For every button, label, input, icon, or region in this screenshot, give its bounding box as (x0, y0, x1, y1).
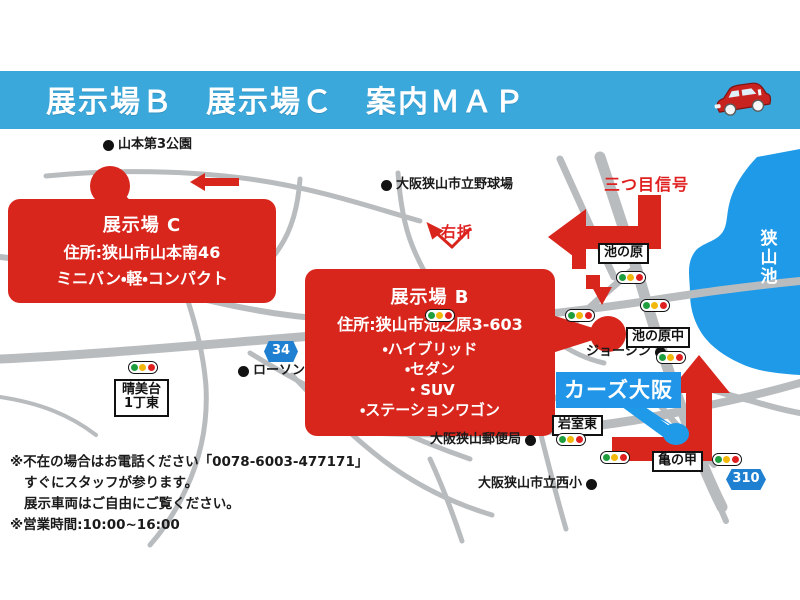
hall-c-callout-notch (86, 181, 138, 209)
hall-b-title: 展示場 B (315, 283, 545, 309)
signal-iwamuro (600, 451, 630, 464)
footnote-phone: ※不在の場合はお電話ください「0078-6003-477171」 (10, 452, 430, 473)
poi-lawson-label: ローソン (253, 364, 305, 379)
route-shield-310: 310 (726, 469, 766, 490)
annotation-third-signal: 三つ目信号 (604, 171, 689, 195)
signal-ikenohara (616, 271, 646, 284)
hall-b-vehicle-3: ・SUV (315, 380, 545, 400)
footnote-freeview: 展示車両はご自由にご覧ください。 (10, 494, 430, 515)
signal-uset (425, 309, 455, 322)
poi-dot-icon (238, 366, 249, 377)
shop-label: カーズ大阪 (556, 372, 681, 408)
red-car-icon (710, 80, 772, 120)
signal-harumidai (128, 361, 158, 374)
poi-dot-icon (103, 140, 114, 151)
plate-ikenohara-naka: 池の原中 (626, 327, 690, 348)
poi-baseball-stadium: 大阪狭山市立野球場 (381, 178, 513, 193)
plate-harumidai-line2: 1丁東 (122, 397, 161, 411)
poi-baseball-stadium-label: 大阪狭山市立野球場 (396, 178, 513, 193)
poi-post-office-label: 大阪狭山郵便局 (430, 433, 521, 448)
poi-nishi-elementary-label: 大阪狭山市立西小 (478, 477, 582, 492)
poi-lawson: ローソン (238, 364, 305, 379)
footnotes: ※不在の場合はお電話ください「0078-6003-477171」 すぐにスタッフ… (10, 452, 430, 536)
poi-yamamoto-park: 山本第3公園 (103, 138, 192, 153)
annotation-turn-right: 右折 (441, 221, 473, 242)
poi-yamamoto-park-label: 山本第3公園 (118, 138, 192, 153)
hall-b-vehicle-2: ・セダン (315, 359, 545, 379)
hall-c-title: 展示場 C (18, 211, 266, 237)
shop-location-dot (663, 423, 689, 445)
poi-dot-icon (586, 479, 597, 490)
plate-kamenoko: 亀の甲 (652, 451, 703, 472)
map-page: 展示場Ｂ 展示場Ｃ 案内ＭＡＰ (0, 0, 800, 600)
signal-joshin-east (656, 351, 686, 364)
plate-ikenohara: 池の原 (598, 243, 649, 264)
poi-nishi-elementary: 大阪狭山市立西小 (478, 477, 597, 492)
footnote-staff: すぐにスタッフが参ります。 (10, 473, 430, 494)
signal-mid-arterial (565, 309, 595, 322)
hall-b-vehicle-4: ・ステーションワゴン (315, 400, 545, 420)
signal-kamenoko (712, 453, 742, 466)
hall-b-vehicle-1: ・ハイブリッド (315, 339, 545, 359)
poi-post-office: 大阪狭山郵便局 (430, 433, 536, 448)
signal-post-office (556, 433, 586, 446)
plate-harumidai: 晴美台 1丁東 (114, 379, 169, 417)
hall-c-vehicles: ミニバン・軽・コンパクト (18, 265, 266, 289)
header-banner: 展示場Ｂ 展示場Ｃ 案内ＭＡＰ (0, 71, 800, 129)
hall-c-address: 住所:狭山市山本南46 (18, 239, 266, 263)
footnote-hours: ※営業時間:10:00~16:00 (10, 515, 430, 536)
route-shield-34: 34 (264, 341, 298, 362)
hall-c-callout: 展示場 C 住所:狭山市山本南46 ミニバン・軽・コンパクト (8, 199, 276, 303)
hall-b-callout: 展示場 B 住所:狭山市池之原3-603 ・ハイブリッド ・セダン ・SUV ・… (305, 269, 555, 436)
page-title: 展示場Ｂ 展示場Ｃ 案内ＭＡＰ (46, 77, 526, 121)
lake-label: 狭山池 (756, 229, 776, 286)
poi-dot-icon (525, 435, 536, 446)
lake-shape (689, 149, 800, 375)
poi-dot-icon (381, 180, 392, 191)
signal-ikenohara-naka (640, 299, 670, 312)
